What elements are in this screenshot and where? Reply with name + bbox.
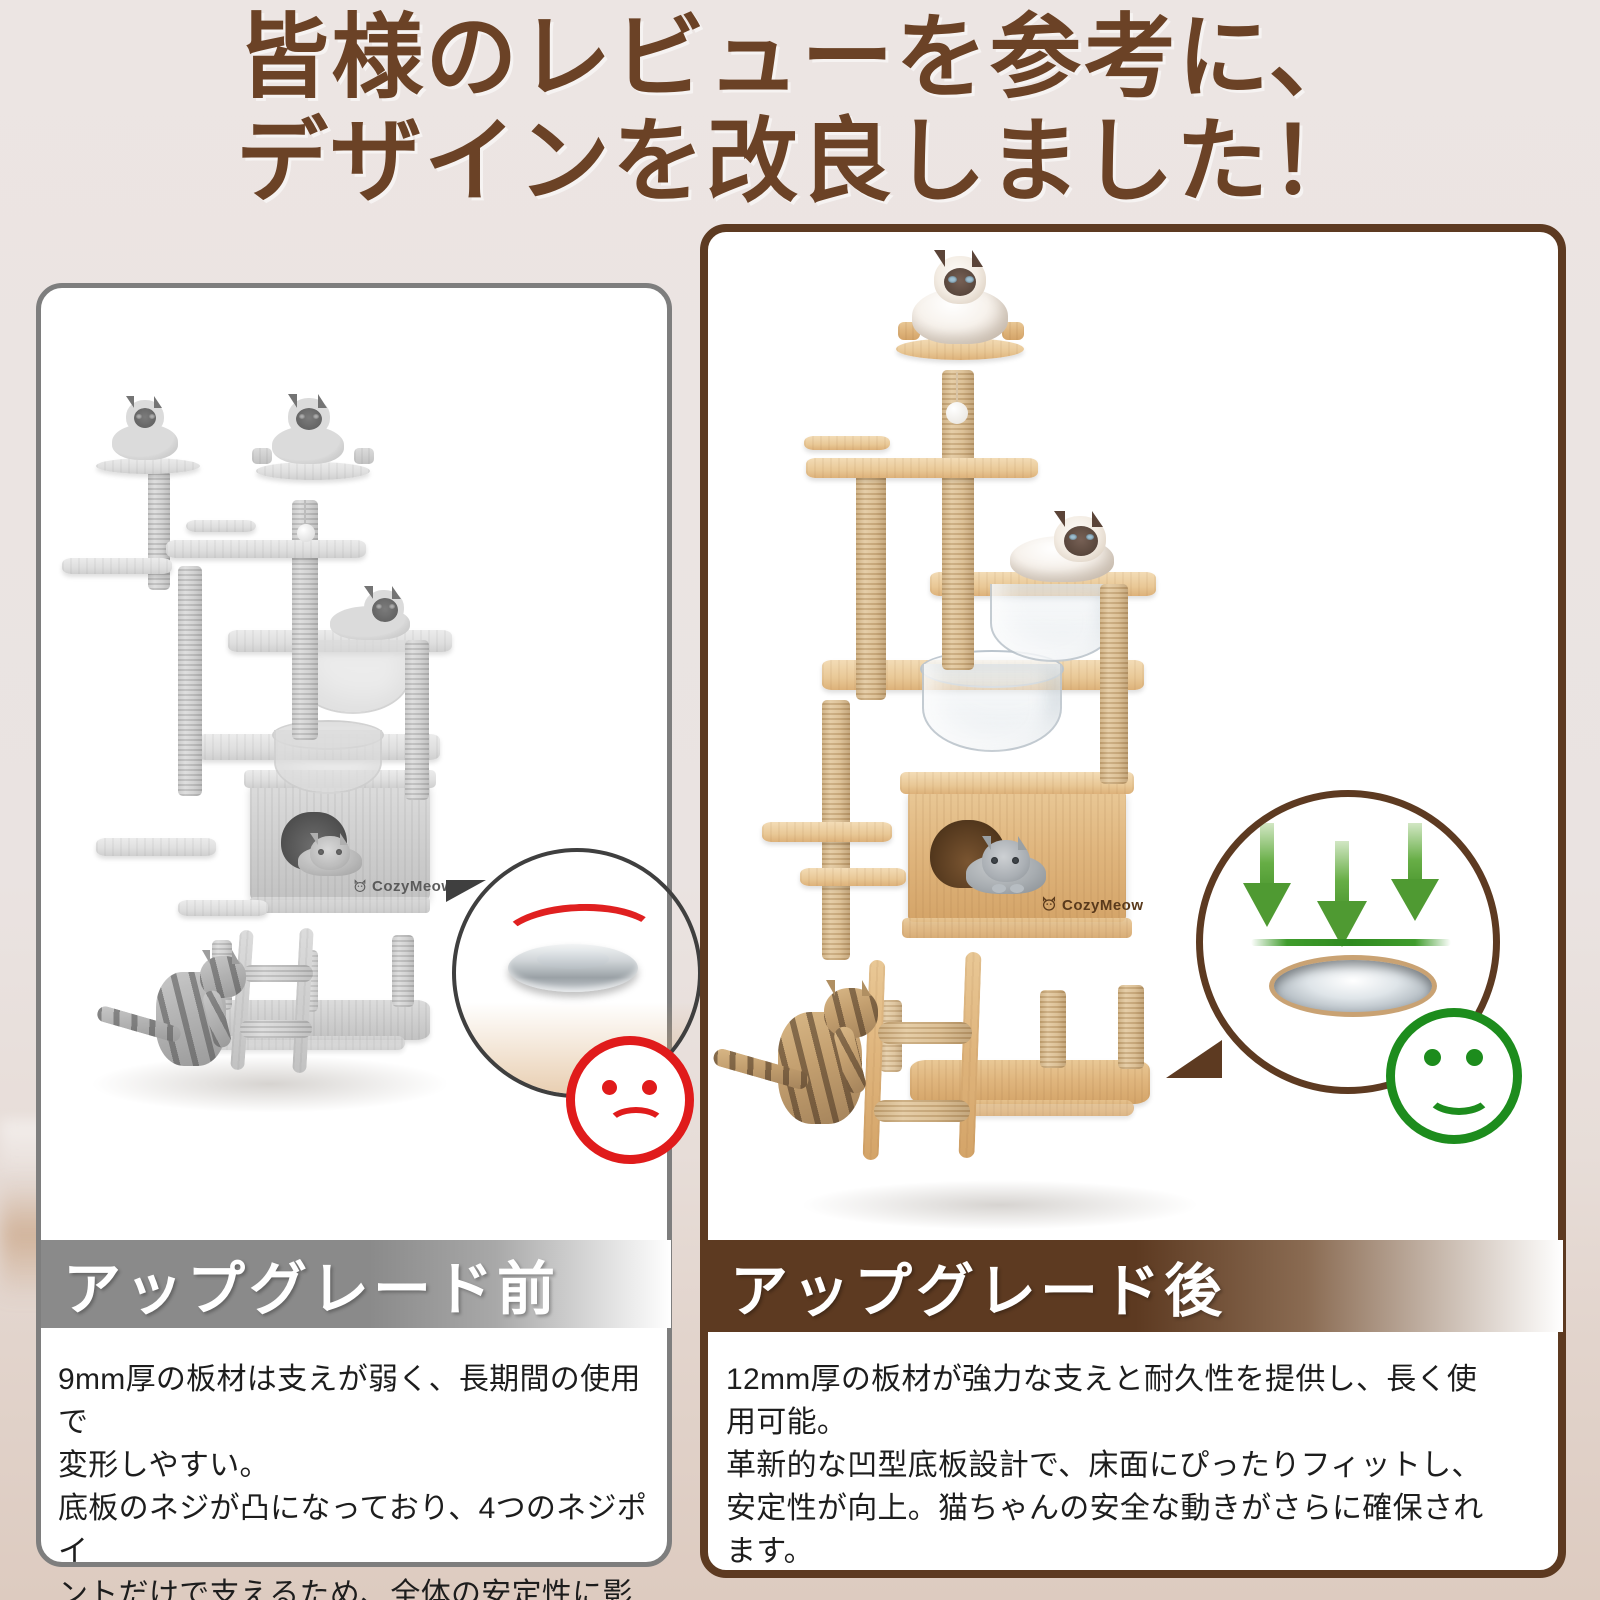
pressure-arrow-2 <box>1315 841 1369 953</box>
after-dome-lower <box>922 664 1062 752</box>
after-toy-string <box>956 372 958 404</box>
after-shelf-step-low-2 <box>800 868 906 886</box>
after-dome-upper <box>990 584 1116 662</box>
after-cat-in-dome <box>1010 516 1120 582</box>
after-leg-2 <box>1118 985 1144 1069</box>
before-line-1: 9mm厚の板材は支えが弱く、長期間の使用で <box>58 1358 648 1444</box>
after-floor-shadow <box>800 1180 1200 1230</box>
after-cat-top <box>908 256 1012 344</box>
before-line-4: ントだけで支えるため、全体の安定性に影響を <box>58 1573 648 1600</box>
after-cat-climbing <box>712 978 932 1148</box>
after-line-5: ます。 <box>726 1530 1536 1573</box>
pressure-arrow-3 <box>1389 823 1441 933</box>
before-description: 9mm厚の板材は支えが弱く、長期間の使用で 変形しやすい。 底板のネジが凸になっ… <box>58 1358 648 1600</box>
infographic-page: 皆様のレビューを参考に、 デザインを改良しました！ <box>0 0 1600 1600</box>
after-base-board <box>910 1060 1150 1104</box>
after-line-1: 12mm厚の板材が強力な支えと耐久性を提供し、長く使 <box>726 1358 1536 1401</box>
after-line-4: 安定性が向上。猫ちゃんの安全な動きがさらに確保され <box>726 1487 1536 1530</box>
after-brand-badge: CozyMeow <box>1040 896 1144 914</box>
after-ladder-rail-right <box>958 952 981 1158</box>
recessed-screw-icon <box>1269 955 1437 1017</box>
before-line-2: 変形しやすい。 <box>58 1444 648 1487</box>
after-cat-in-house <box>962 840 1050 896</box>
after-leg-1 <box>1040 990 1066 1068</box>
after-line-3: 革新的な凹型底板設計で、床面にぴったりフィットし、 <box>726 1444 1536 1487</box>
before-label-bar: アップグレード前 <box>41 1240 671 1328</box>
after-callout-pointer <box>1166 1040 1222 1078</box>
after-shelf-upper <box>806 458 1038 478</box>
after-shelf-rail <box>804 436 890 450</box>
after-shelf-step-low <box>762 822 892 842</box>
after-toy-ball <box>946 402 968 424</box>
after-house-base <box>902 918 1132 938</box>
before-line-3: 底板のネジが凸になっており、4つのネジポイ <box>58 1487 648 1573</box>
cat-logo-icon <box>1040 896 1058 914</box>
after-description: 12mm厚の板材が強力な支えと耐久性を提供し、長く使 用可能。 革新的な凹型底板… <box>726 1358 1536 1573</box>
floor-contact-line <box>1251 939 1451 946</box>
after-post-right <box>1100 584 1128 784</box>
after-label-bar: アップグレード後 <box>708 1240 1563 1332</box>
pressure-arrow-1 <box>1241 823 1293 933</box>
after-label-text: アップグレード後 <box>730 1244 1226 1328</box>
after-post-left <box>856 470 886 700</box>
happy-face-icon <box>1386 1008 1522 1144</box>
after-brand-text: CozyMeow <box>1062 897 1144 914</box>
after-house-roof <box>900 772 1134 794</box>
before-label-text: アップグレード前 <box>63 1242 559 1326</box>
after-line-2: 用可能。 <box>726 1401 1536 1444</box>
